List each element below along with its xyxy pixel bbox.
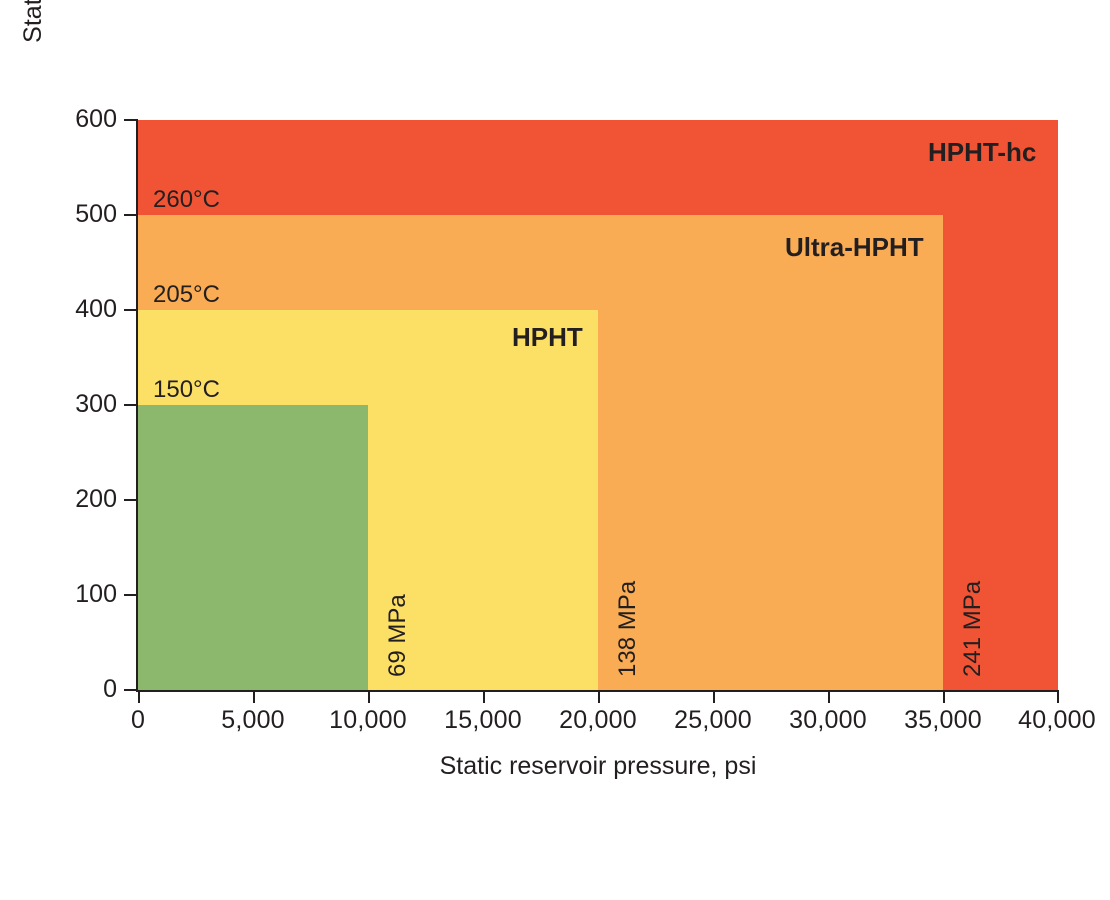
chart-figure: 0 5,000 10,000 15,000 20,000 25,000 30,0… (0, 0, 1110, 900)
y-tick-300 (124, 404, 136, 406)
y-ticklabel-600: 600 (75, 105, 117, 134)
x-tick-20000 (598, 692, 600, 703)
pressure-annotation-241mpa: 241 MPa (959, 581, 987, 677)
x-tick-25000 (713, 692, 715, 703)
y-tick-200 (124, 499, 136, 501)
x-tick-15000 (483, 692, 485, 703)
x-ticklabel-5000: 5,000 (221, 706, 285, 735)
x-tick-35000 (943, 692, 945, 703)
temp-annotation-150c: 150°C (153, 376, 220, 404)
y-ticklabel-100: 100 (75, 580, 117, 609)
plot-area (138, 120, 1058, 690)
x-ticklabel-25000: 25,000 (674, 706, 752, 735)
temp-annotation-205c: 205°C (153, 281, 220, 309)
x-ticklabel-15000: 15,000 (444, 706, 522, 735)
x-ticklabel-35000: 35,000 (904, 706, 982, 735)
y-ticklabel-0: 0 (75, 675, 117, 704)
y-ticklabel-500: 500 (75, 200, 117, 229)
zone-label-ultra-hpht: Ultra-HPHT (785, 232, 924, 263)
x-axis-title: Static reservoir pressure, psi (138, 752, 1058, 781)
zone-label-hpht: HPHT (512, 322, 583, 353)
x-tick-5000 (253, 692, 255, 703)
x-ticklabel-0: 0 (131, 706, 145, 735)
x-ticklabel-20000: 20,000 (559, 706, 637, 735)
y-tick-500 (124, 214, 136, 216)
y-tick-100 (124, 594, 136, 596)
y-axis-line (136, 119, 138, 692)
y-ticklabel-300: 300 (75, 390, 117, 419)
x-tick-30000 (828, 692, 830, 703)
y-ticklabel-400: 400 (75, 295, 117, 324)
zone-label-hpht-hc: HPHT-hc (928, 137, 1036, 168)
pressure-annotation-138mpa: 138 MPa (614, 581, 642, 677)
y-tick-0 (124, 689, 136, 691)
zone-conventional (138, 405, 368, 690)
x-ticklabel-10000: 10,000 (329, 706, 407, 735)
y-ticklabel-200: 200 (75, 485, 117, 514)
x-ticklabel-30000: 30,000 (789, 706, 867, 735)
x-tick-0 (138, 692, 140, 703)
x-ticklabel-40000: 40,000 (1018, 706, 1096, 735)
temp-annotation-260c: 260°C (153, 186, 220, 214)
x-tick-10000 (368, 692, 370, 703)
y-axis-title: Static reservoir temperature, °F (16, 0, 50, 154)
pressure-annotation-69mpa: 69 MPa (384, 594, 412, 677)
y-tick-400 (124, 309, 136, 311)
y-tick-600 (124, 119, 136, 121)
x-tick-40000 (1057, 692, 1059, 703)
